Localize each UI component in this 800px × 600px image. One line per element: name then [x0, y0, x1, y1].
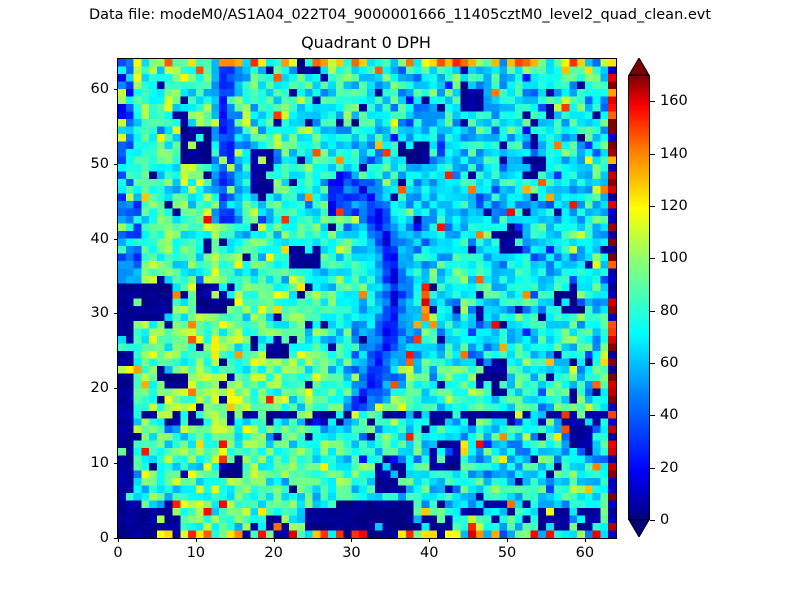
- colorbar-gradient: [628, 75, 650, 520]
- heatmap-axes: [117, 58, 617, 539]
- y-axis-tick-label: 60: [61, 81, 109, 97]
- y-axis-tick-label: 50: [61, 156, 109, 172]
- colorbar-tick: [650, 101, 655, 102]
- x-axis-tick: [507, 538, 508, 542]
- colorbar-tick: [650, 363, 655, 364]
- x-axis-tick-label: 50: [498, 545, 516, 561]
- colorbar-tick: [650, 311, 655, 312]
- y-axis-tick-label: 40: [61, 231, 109, 247]
- detector-heatmap-image: [118, 59, 616, 538]
- y-axis-tick: [114, 239, 118, 240]
- colorbar-tick: [650, 415, 655, 416]
- colorbar-tick-label: 80: [660, 303, 678, 319]
- colorbar-tick-label: 160: [660, 93, 688, 109]
- x-axis-tick-label: 10: [187, 545, 205, 561]
- x-axis-tick: [429, 538, 430, 542]
- colorbar-under-arrow: [628, 520, 650, 537]
- colorbar-tick-label: 120: [660, 198, 688, 214]
- x-axis-tick-label: 20: [264, 545, 282, 561]
- colorbar-tick-label: 0: [660, 512, 669, 528]
- y-axis-tick-label: 0: [61, 530, 109, 546]
- colorbar-tick-label: 60: [660, 355, 678, 371]
- y-axis-tick: [114, 538, 118, 539]
- colorbar-over-arrow: [628, 58, 650, 75]
- data-file-suptitle: Data file: modeM0/AS1A04_022T04_90000016…: [0, 6, 800, 24]
- x-axis-tick: [585, 538, 586, 542]
- figure-canvas: Data file: modeM0/AS1A04_022T04_90000016…: [0, 0, 800, 600]
- y-axis-tick: [114, 313, 118, 314]
- x-axis-tick-label: 0: [113, 545, 122, 561]
- y-axis-tick-label: 10: [61, 455, 109, 471]
- y-axis-tick: [114, 89, 118, 90]
- colorbar-tick: [650, 206, 655, 207]
- x-axis-tick: [118, 538, 119, 542]
- y-axis-tick-label: 20: [61, 380, 109, 396]
- colorbar-tick-label: 20: [660, 460, 678, 476]
- x-axis-tick: [196, 538, 197, 542]
- colorbar-tick: [650, 258, 655, 259]
- y-axis-tick: [114, 463, 118, 464]
- x-axis-tick-label: 40: [420, 545, 438, 561]
- x-axis-tick: [274, 538, 275, 542]
- x-axis-tick: [351, 538, 352, 542]
- colorbar-tick-label: 140: [660, 146, 688, 162]
- colorbar-tick: [650, 468, 655, 469]
- colorbar: 020406080100120140160: [628, 58, 650, 537]
- y-axis-tick-label: 30: [61, 305, 109, 321]
- colorbar-tick: [650, 520, 655, 521]
- y-axis-tick: [114, 388, 118, 389]
- colorbar-tick-label: 40: [660, 407, 678, 423]
- colorbar-tick-label: 100: [660, 250, 688, 266]
- x-axis-tick-label: 30: [342, 545, 360, 561]
- y-axis-tick: [114, 164, 118, 165]
- x-axis-tick-label: 60: [576, 545, 594, 561]
- page-title: Quadrant 0 DPH: [117, 33, 615, 53]
- colorbar-tick: [650, 154, 655, 155]
